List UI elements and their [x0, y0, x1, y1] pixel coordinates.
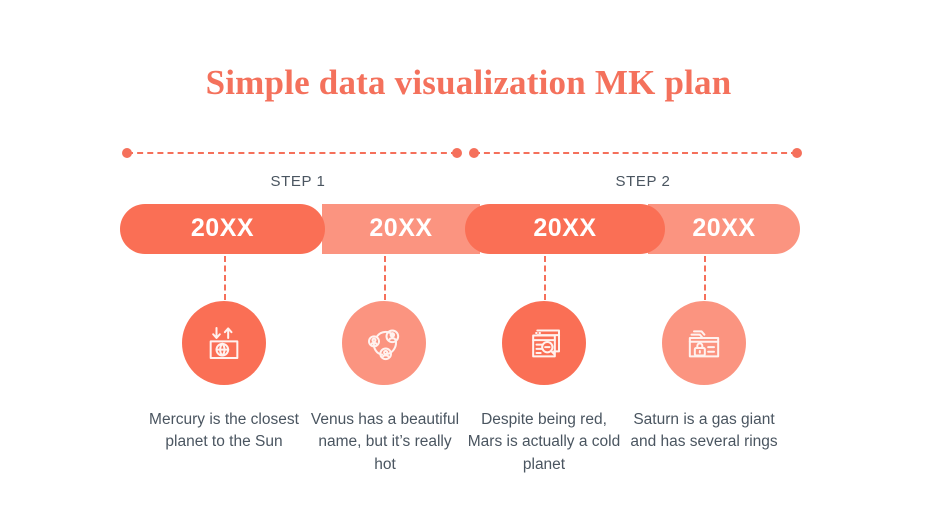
rail-dashed-line — [474, 152, 797, 154]
timeline-segment-label: 20XX — [692, 216, 755, 241]
connector-line-3 — [544, 256, 546, 300]
timeline-segment-2[interactable]: 20XX — [322, 204, 480, 254]
caption-1: Mercury is the closest planet to the Sun — [144, 409, 304, 454]
icon-circle-1[interactable] — [182, 301, 266, 385]
timeline-segment-4[interactable]: 20XX — [648, 204, 800, 254]
rail-dot-end — [792, 148, 802, 158]
step-rail-2 — [469, 148, 802, 158]
caption-4: Saturn is a gas giant and has several ri… — [626, 409, 782, 454]
timeline-segment-label: 20XX — [369, 216, 432, 241]
import-export-globe-icon — [204, 323, 244, 363]
timeline-segment-1[interactable]: 20XX — [120, 204, 325, 254]
caption-3: Despite being red, Mars is actually a co… — [464, 409, 624, 476]
icon-circle-4[interactable] — [662, 301, 746, 385]
timeline-segment-3[interactable]: 20XX — [465, 204, 665, 254]
connector-line-1 — [224, 256, 226, 300]
slide-canvas: Simple data visualization MK plan STEP 1… — [0, 0, 937, 527]
step-label-2: STEP 2 — [573, 173, 713, 190]
page-title: Simple data visualization MK plan — [0, 63, 937, 103]
step-label-1: STEP 1 — [228, 173, 368, 190]
network-users-icon — [364, 323, 404, 363]
icon-circle-2[interactable] — [342, 301, 426, 385]
locked-folder-icon — [684, 323, 724, 363]
timeline-bar: 20XX 20XX 20XX 20XX — [120, 204, 800, 254]
caption-2: Venus has a beautiful name, but it’s rea… — [306, 409, 464, 476]
icon-circle-3[interactable] — [502, 301, 586, 385]
search-windows-icon — [524, 323, 564, 363]
timeline-segment-label: 20XX — [533, 216, 596, 241]
connector-line-4 — [704, 256, 706, 300]
rail-dot-end — [452, 148, 462, 158]
timeline-segment-label: 20XX — [191, 216, 254, 241]
rail-dashed-line — [127, 152, 457, 154]
step-rail-1 — [122, 148, 462, 158]
connector-line-2 — [384, 256, 386, 300]
